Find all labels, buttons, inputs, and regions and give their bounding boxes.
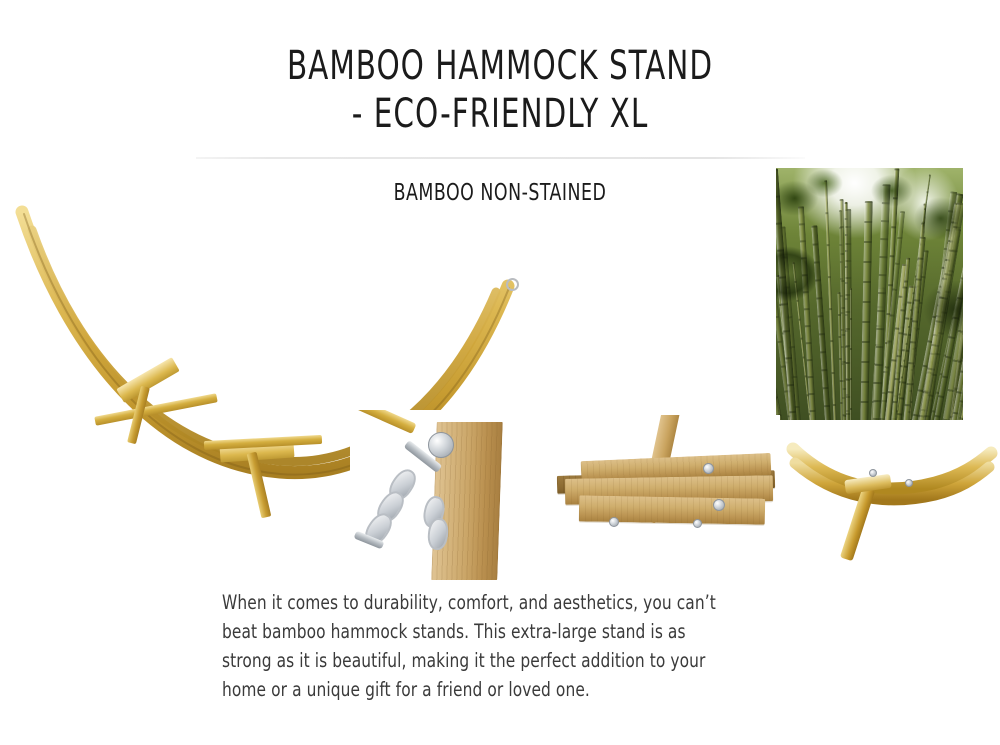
detail3-bolt-2 bbox=[905, 479, 913, 487]
description-paragraph: When it comes to durability, comfort, an… bbox=[222, 588, 728, 704]
title-line-2: - ECO-FRIENDLY XL bbox=[90, 90, 910, 138]
forest-leaves-layer bbox=[776, 168, 963, 420]
detail3-bolt-1 bbox=[869, 469, 877, 477]
detail2-beam-lower bbox=[579, 495, 765, 524]
detail3-arc-svg bbox=[785, 435, 1000, 570]
product-slide: BAMBOO HAMMOCK STAND - ECO-FRIENDLY XL B… bbox=[0, 0, 1000, 745]
chain-hardware-detail-photo bbox=[350, 410, 540, 580]
detail2-bolt-2 bbox=[713, 499, 725, 511]
beam-joint-detail-photo bbox=[555, 415, 780, 580]
detail2-bolt-3 bbox=[609, 517, 619, 527]
bamboo-forest-photo bbox=[776, 168, 963, 420]
header-divider bbox=[196, 157, 805, 159]
detail1-eye-bolt bbox=[428, 432, 454, 458]
detail2-bolt-1 bbox=[703, 463, 714, 474]
page-title: BAMBOO HAMMOCK STAND - ECO-FRIENDLY XL bbox=[90, 42, 910, 138]
detail1-arc-fragment bbox=[350, 410, 417, 434]
stand-eye-hook-icon bbox=[506, 278, 519, 291]
arc-foot-detail-photo bbox=[785, 435, 1000, 570]
detail2-bolt-4 bbox=[693, 519, 702, 528]
title-line-1: BAMBOO HAMMOCK STAND bbox=[287, 43, 713, 89]
